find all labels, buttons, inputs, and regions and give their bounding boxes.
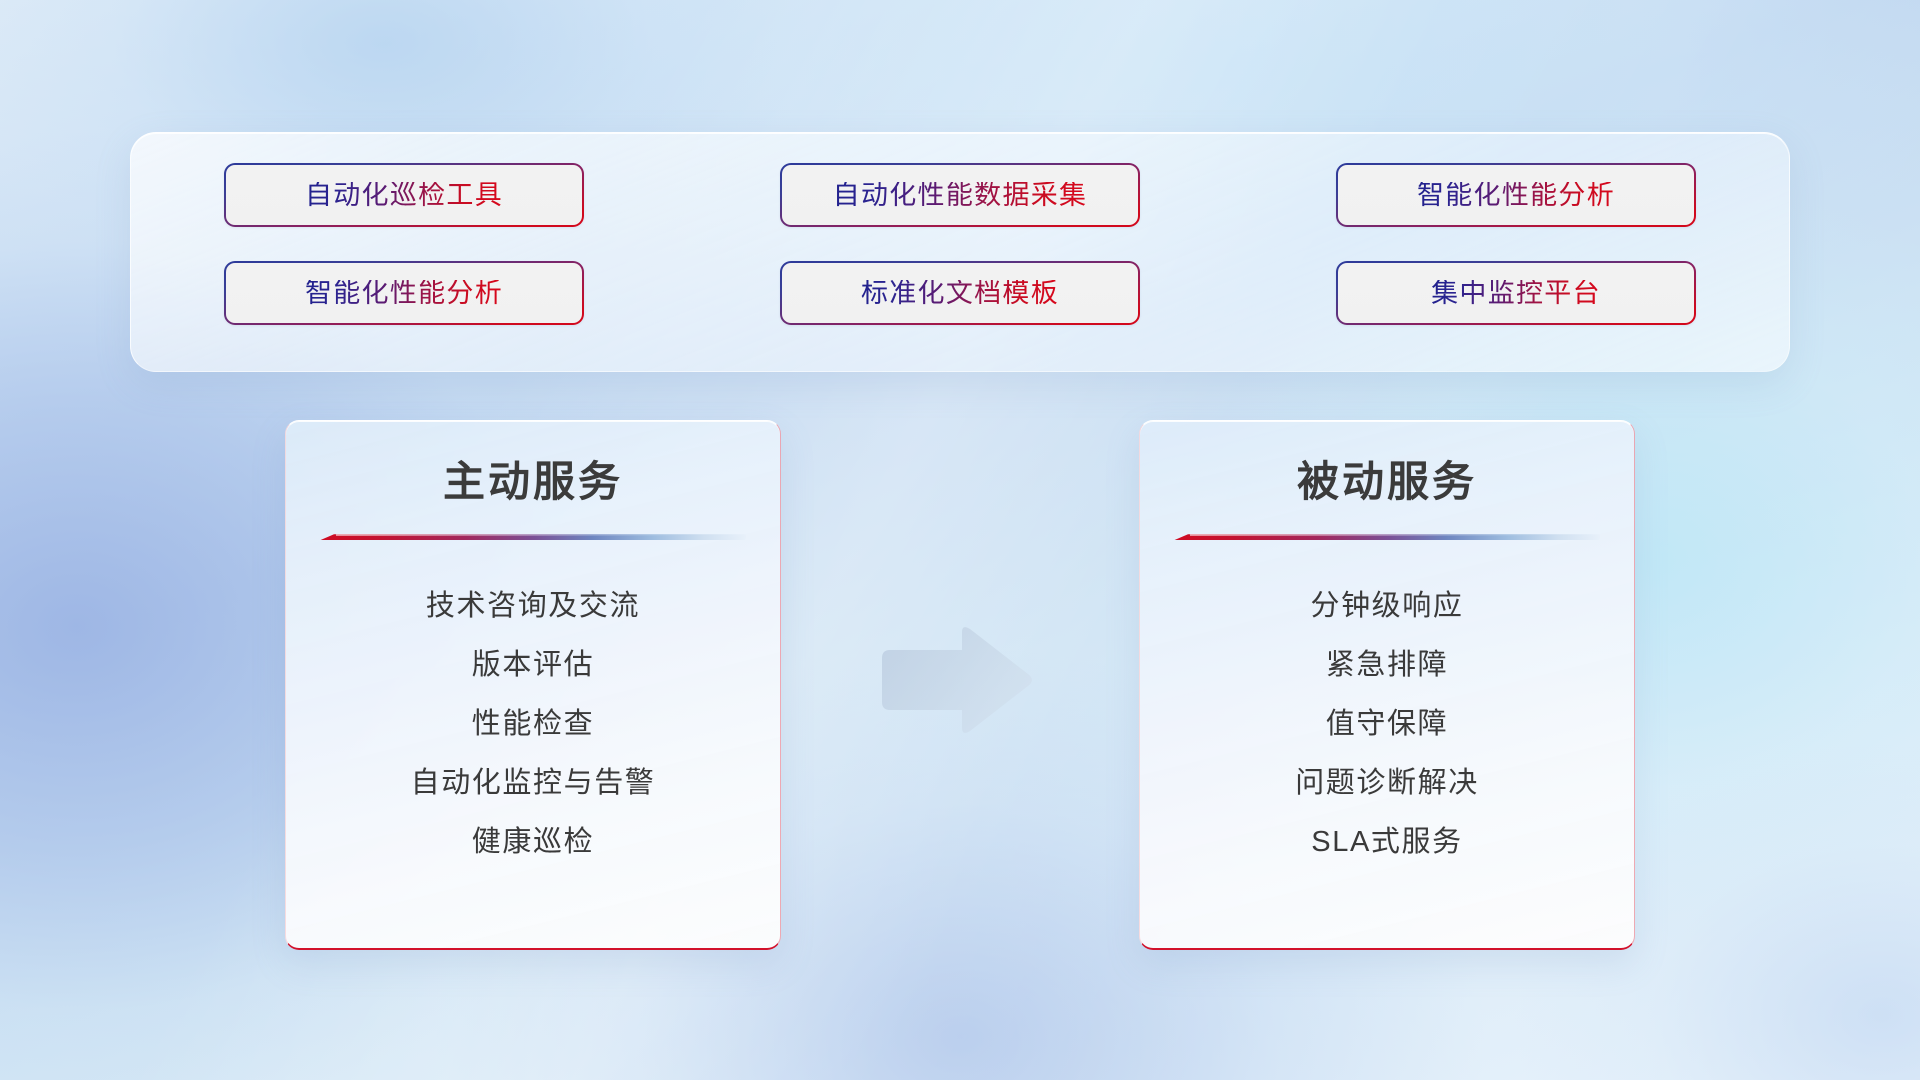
capability-pill-4[interactable]: 智能化性能分析 xyxy=(224,261,584,325)
capability-pill-5[interactable]: 标准化文档模板 xyxy=(780,261,1140,325)
capability-panel: 自动化巡检工具 自动化性能数据采集 智能化性能分析 智能化性能分析 标准化文档模… xyxy=(130,132,1790,372)
slide-canvas: 自动化巡检工具 自动化性能数据采集 智能化性能分析 智能化性能分析 标准化文档模… xyxy=(0,0,1920,1080)
list-item[interactable]: 版本评估 xyxy=(312,636,754,695)
list-item[interactable]: 紧急排障 xyxy=(1166,636,1608,695)
capability-pill-label: 智能化性能分析 xyxy=(305,280,503,307)
service-list-proactive: 技术咨询及交流 版本评估 性能检查 自动化监控与告警 健康巡检 xyxy=(312,541,754,872)
capability-pill-2[interactable]: 自动化性能数据采集 xyxy=(780,163,1140,227)
card-divider xyxy=(320,533,746,541)
card-divider-highlight xyxy=(336,534,746,536)
list-item[interactable]: 问题诊断解决 xyxy=(1166,754,1608,813)
capability-pill-label: 集中监控平台 xyxy=(1431,280,1601,307)
capability-pill-3[interactable]: 智能化性能分析 xyxy=(1336,163,1696,227)
capability-pill-label: 自动化巡检工具 xyxy=(305,182,503,209)
list-item[interactable]: 性能检查 xyxy=(312,695,754,754)
list-item[interactable]: 值守保障 xyxy=(1166,695,1608,754)
capability-pill-6[interactable]: 集中监控平台 xyxy=(1336,261,1696,325)
list-item[interactable]: 分钟级响应 xyxy=(1166,577,1608,636)
service-card-proactive[interactable]: 主动服务 技术咨询及交流 版本评估 性能检查 自动化监控与告警 健康巡检 xyxy=(285,420,781,950)
list-item[interactable]: 技术咨询及交流 xyxy=(312,577,754,636)
list-item[interactable]: 健康巡检 xyxy=(312,813,754,872)
list-item[interactable]: SLA式服务 xyxy=(1166,813,1608,872)
capability-pill-1[interactable]: 自动化巡检工具 xyxy=(224,163,584,227)
arrow-right-icon xyxy=(876,624,1036,736)
card-divider xyxy=(1174,533,1600,541)
capability-pill-label: 标准化文档模板 xyxy=(861,280,1059,307)
list-item[interactable]: 自动化监控与告警 xyxy=(312,754,754,813)
service-card-reactive[interactable]: 被动服务 分钟级响应 紧急排障 值守保障 问题诊断解决 SLA式服务 xyxy=(1139,420,1635,950)
card-title: 主动服务 xyxy=(312,459,754,505)
capability-pill-label: 自动化性能数据采集 xyxy=(833,182,1088,209)
capability-pill-label: 智能化性能分析 xyxy=(1417,182,1615,209)
card-divider-highlight xyxy=(1190,534,1600,536)
service-list-reactive: 分钟级响应 紧急排障 值守保障 问题诊断解决 SLA式服务 xyxy=(1166,541,1608,872)
card-title: 被动服务 xyxy=(1166,459,1608,505)
